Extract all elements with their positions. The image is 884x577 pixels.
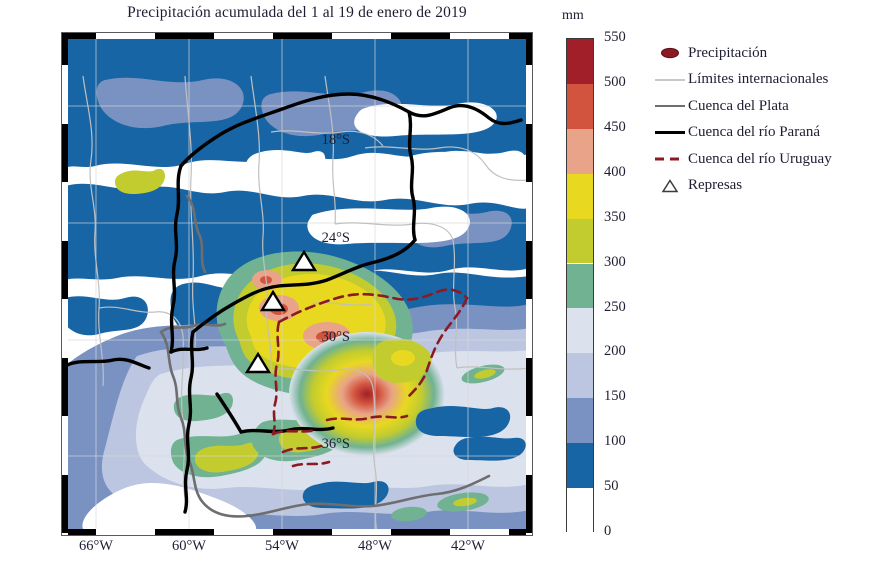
colorbar-segment-500 [567,84,593,129]
colorbar-tick: 500 [604,74,626,91]
colorbar-segment-550 [567,39,593,84]
colorbar-tick: 550 [604,29,626,46]
colorbar-segment-350 [567,219,593,264]
precipitation-map [65,36,529,532]
colorbar-segment-300 [567,264,593,309]
colorbar-tick: 0 [604,523,611,540]
colorbar-tick: 300 [604,254,626,271]
line-icon [652,93,688,120]
legend-item-cuenca-del-plata[interactable]: Cuenca del Plata [652,93,882,120]
legend-item-limites-internacionales[interactable]: Límites internacionales [652,67,882,94]
colorbar-segment-200 [567,353,593,398]
colorbar-tick: 150 [604,388,626,405]
colorbar-tick: 100 [604,433,626,450]
y-axis-label: 36°S [280,436,350,453]
colorbar-segment-150 [567,398,593,443]
colorbar-tick: 50 [604,478,619,495]
colorbar-tick: 350 [604,209,626,226]
line-icon [652,67,688,94]
line-icon [652,120,688,147]
y-axis-label: 24°S [280,230,350,247]
precipitation-dot-icon [652,40,688,67]
x-axis-label: 60°W [149,538,229,555]
legend-item-cuenca-del-rio-parana[interactable]: Cuenca del río Paraná [652,120,882,147]
colorbar-tick: 200 [604,343,626,360]
legend-label: Cuenca del Plata [688,98,789,115]
x-axis-label: 48°W [335,538,415,555]
colorbar-tick: 250 [604,299,626,316]
legend-item-precipitacion[interactable]: Precipitación [652,40,882,67]
legend-label: Cuenca del río Uruguay [688,151,832,168]
legend-label: Cuenca del río Paraná [688,124,820,141]
legend-label: Límites internacionales [688,71,828,88]
x-axis-label: 54°W [242,538,322,555]
legend-item-represas[interactable]: Represas [652,173,882,200]
y-axis-label: 18°S [280,132,350,149]
legend-label: Represas [688,177,742,194]
colorbar-unit-label: mm [562,8,584,24]
page-title: Precipitación acumulada del 1 al 19 de e… [65,4,529,22]
legend: Precipitación Límites internacionales Cu… [652,40,882,199]
colorbar-segment-50 [567,488,593,533]
colorbar-segment-400 [567,174,593,219]
map-plot-area[interactable] [65,36,529,532]
figure: Precipitación acumulada del 1 al 19 de e… [0,0,884,577]
colorbar-tick: 400 [604,164,626,181]
colorbar-segment-250 [567,308,593,353]
legend-item-cuenca-del-rio-uruguay[interactable]: Cuenca del río Uruguay [652,146,882,173]
colorbar-tick: 450 [604,119,626,136]
colorbar[interactable] [566,38,594,532]
triangle-icon [652,173,688,200]
x-axis-label: 66°W [56,538,136,555]
x-axis-label: 42°W [428,538,508,555]
y-axis-label: 30°S [280,329,350,346]
dashed-line-icon [652,146,688,173]
colorbar-segment-100 [567,443,593,488]
colorbar-segment-450 [567,129,593,174]
legend-label: Precipitación [688,45,767,62]
